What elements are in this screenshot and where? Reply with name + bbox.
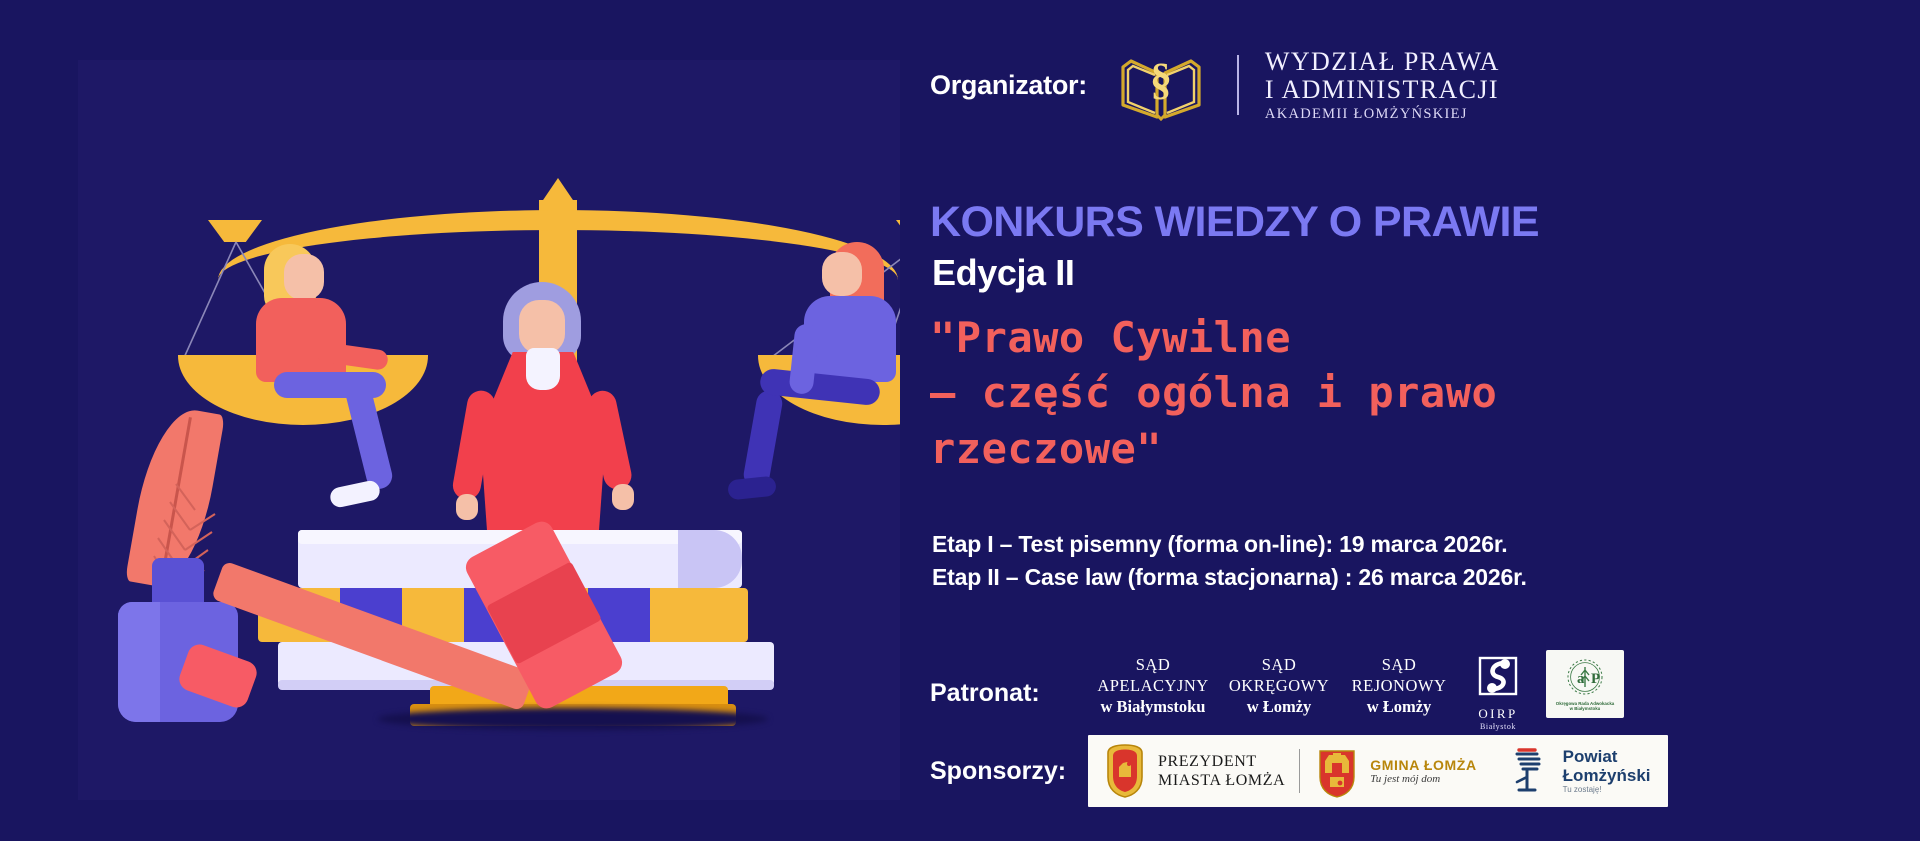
svg-text:P: P bbox=[1591, 671, 1600, 687]
organizer-name-line-1: WYDZIAŁ PRAWA bbox=[1265, 48, 1500, 76]
patronage-label: Patronat: bbox=[930, 645, 1088, 708]
sponsor-name-line-1: GMINA ŁOMŻA bbox=[1370, 757, 1476, 773]
court-line-2: OKRĘGOWY bbox=[1218, 676, 1340, 697]
court-line-1: SĄD bbox=[1218, 655, 1340, 676]
sponsor-name: Powiat Łomżyński Tu zostaję! bbox=[1563, 748, 1651, 794]
gmina-lomza-crest-icon bbox=[1314, 743, 1360, 799]
scale-beam-cap-right bbox=[896, 220, 900, 242]
patron-court-regional: SĄD OKRĘGOWY w Łomży bbox=[1218, 645, 1340, 717]
book-top-spine bbox=[678, 530, 742, 588]
page-title: KONKURS WIEDZY O PRAWIE bbox=[930, 198, 1539, 247]
gavel-shadow bbox=[378, 708, 768, 730]
judge-hand-left bbox=[456, 494, 478, 520]
sponsor-name-line-1: PREZYDENT bbox=[1158, 752, 1285, 771]
court-line-1: SĄD bbox=[1088, 655, 1218, 676]
patron-court-appellate: SĄD APELACYJNY w Białymstoku bbox=[1088, 645, 1218, 717]
organizer-name-line-2: I ADMINISTRACJI bbox=[1265, 76, 1500, 104]
seated-person-left-shoe bbox=[328, 479, 381, 509]
oirp-name: OIRP bbox=[1466, 706, 1530, 722]
sponsor-name: GMINA ŁOMŻA Tu jest mój dom bbox=[1370, 757, 1476, 785]
sponsors-card: PREZYDENT MIASTA ŁOMŻA GMINA ŁOMŻA bbox=[1088, 735, 1668, 807]
sponsor-slogan: Tu jest mój dom bbox=[1370, 773, 1476, 785]
organizer-name-block: WYDZIAŁ PRAWA I ADMINISTRACJI AKADEMII Ł… bbox=[1265, 48, 1500, 123]
seated-person-right-shoe bbox=[727, 476, 777, 501]
court-line-1: SĄD bbox=[1340, 655, 1458, 676]
subtitle-line-1: "Prawo Cywilne bbox=[930, 310, 1710, 365]
court-line-2: APELACYJNY bbox=[1088, 676, 1218, 697]
seated-person-right-leg-back bbox=[742, 388, 785, 489]
subtitle-block: "Prawo Cywilne – część ogólna i prawo rz… bbox=[930, 310, 1710, 476]
court-line-3: w Łomży bbox=[1218, 697, 1340, 718]
sponsor-gmina-lomza: GMINA ŁOMŻA Tu jest mój dom bbox=[1300, 735, 1490, 807]
organizer-label: Organizator: bbox=[930, 70, 1087, 101]
oirp-emblem-icon bbox=[1475, 653, 1521, 699]
patron-ora-card: a P Okręgowa Rada Adwokacka w Białymstok… bbox=[1546, 650, 1624, 718]
open-book-paragraph-logo-icon: § bbox=[1107, 49, 1215, 121]
content-column: Organizator: § WYDZIAŁ PRAWA I ADMINISTR… bbox=[930, 0, 1920, 841]
seated-person-left-leg-front bbox=[274, 372, 386, 398]
scale-beam-cap-left bbox=[208, 220, 262, 242]
seated-person-left-head bbox=[284, 254, 324, 300]
court-line-2: REJONOWY bbox=[1340, 676, 1458, 697]
patronage-row: Patronat: SĄD APELACYJNY w Białymstoku S… bbox=[930, 645, 1624, 731]
ora-caption: Okręgowa Rada Adwokacka w Białymstoku bbox=[1556, 701, 1614, 712]
scales-of-justice-illustration bbox=[78, 60, 900, 800]
sponsor-name-line-1: Powiat bbox=[1563, 748, 1651, 766]
judge-hand-right bbox=[612, 484, 634, 510]
sponsor-slogan: Tu zostaję! bbox=[1563, 785, 1651, 794]
promotional-banner: Organizator: § WYDZIAŁ PRAWA I ADMINISTR… bbox=[0, 0, 1920, 841]
ora-caption-line-2: w Białymstoku bbox=[1556, 706, 1614, 712]
oirp-city: Białystok bbox=[1466, 722, 1530, 731]
sponsors-label: Sponsorzy: bbox=[930, 757, 1088, 786]
court-line-3: w Łomży bbox=[1340, 697, 1458, 718]
judge-collar bbox=[526, 348, 560, 390]
edition-label: Edycja II bbox=[932, 252, 1074, 294]
sponsor-powiat-lomzynski: Powiat Łomżyński Tu zostaję! bbox=[1491, 735, 1665, 807]
organizer-name-line-3: AKADEMII ŁOMŻYŃSKIEJ bbox=[1265, 107, 1500, 123]
powiat-stork-icon bbox=[1505, 744, 1553, 798]
sponsor-name-line-2: Łomżyński bbox=[1563, 767, 1651, 785]
ora-green-circle-icon: a P bbox=[1563, 657, 1607, 699]
sponsor-name: PREZYDENT MIASTA ŁOMŻA bbox=[1158, 752, 1285, 790]
seated-person-left-torso bbox=[256, 298, 346, 382]
sponsor-name-line-2: MIASTA ŁOMŻA bbox=[1158, 771, 1285, 790]
organizer-row: Organizator: § WYDZIAŁ PRAWA I ADMINISTR… bbox=[930, 48, 1500, 123]
stage-2-date: Etap II – Case law (forma stacjonarna) :… bbox=[932, 561, 1527, 594]
sponsors-row: Sponsorzy: PREZYDENT MIASTA ŁOMŻA bbox=[930, 735, 1668, 807]
svg-text:a: a bbox=[1577, 671, 1585, 687]
lomza-city-crest-icon bbox=[1102, 743, 1148, 799]
patron-court-district: SĄD REJONOWY w Łomży bbox=[1340, 645, 1458, 717]
subtitle-line-3: rzeczowe" bbox=[930, 421, 1710, 476]
stage-1-date: Etap I – Test pisemny (forma on-line): 1… bbox=[932, 528, 1527, 561]
court-line-3: w Białymstoku bbox=[1088, 697, 1218, 718]
judge-head bbox=[519, 300, 565, 354]
schedule-block: Etap I – Test pisemny (forma on-line): 1… bbox=[932, 528, 1527, 593]
svg-text:§: § bbox=[1150, 55, 1172, 104]
seated-person-right-head bbox=[822, 252, 862, 296]
subtitle-line-2: – część ogólna i prawo bbox=[930, 365, 1710, 420]
organizer-divider bbox=[1237, 55, 1239, 115]
sponsor-prezydent-miasta-lomza: PREZYDENT MIASTA ŁOMŻA bbox=[1088, 735, 1299, 807]
patron-oirp: OIRP Białystok bbox=[1466, 645, 1530, 731]
